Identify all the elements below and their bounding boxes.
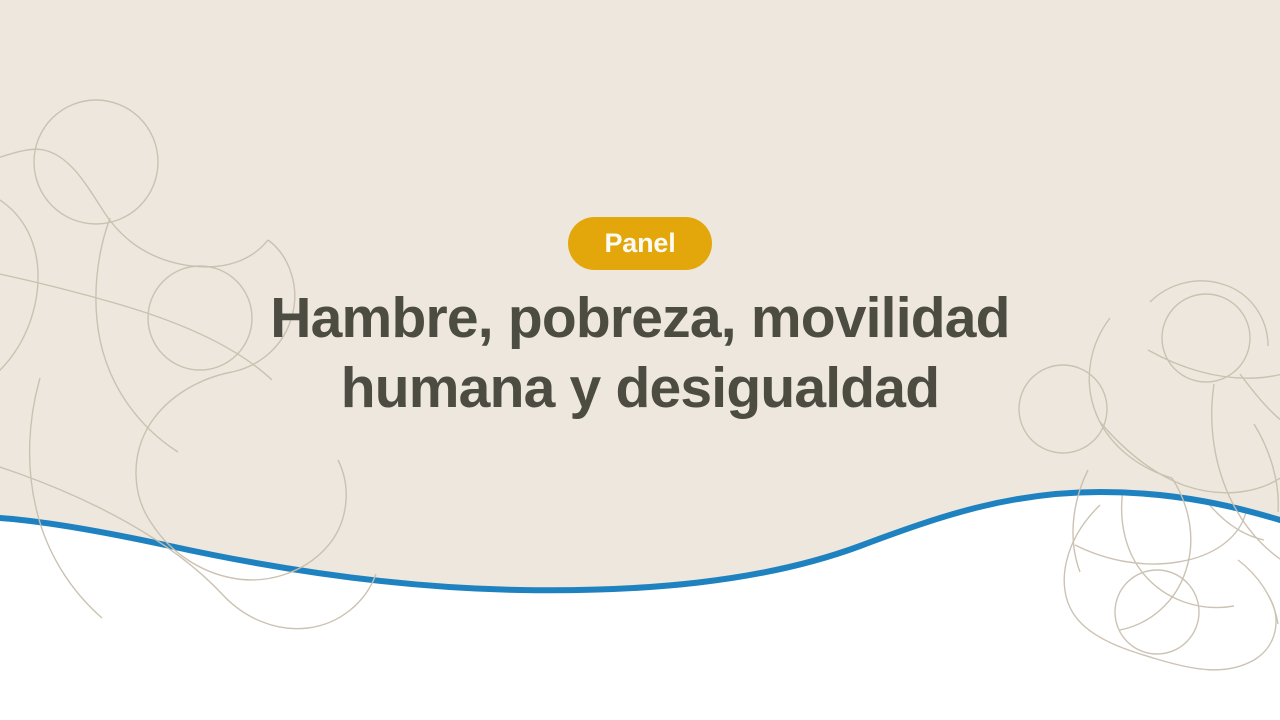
slide-root: Panel Hambre, pobreza, movilidad humana … (0, 0, 1280, 720)
page-title-line-1: Hambre, pobreza, movilidad (110, 283, 1170, 353)
page-title-line-2: humana y desigualdad (110, 353, 1170, 423)
panel-badge: Panel (568, 217, 712, 270)
badge-row: Panel (568, 217, 712, 270)
page-title: Hambre, pobreza, movilidad humana y desi… (110, 283, 1170, 423)
